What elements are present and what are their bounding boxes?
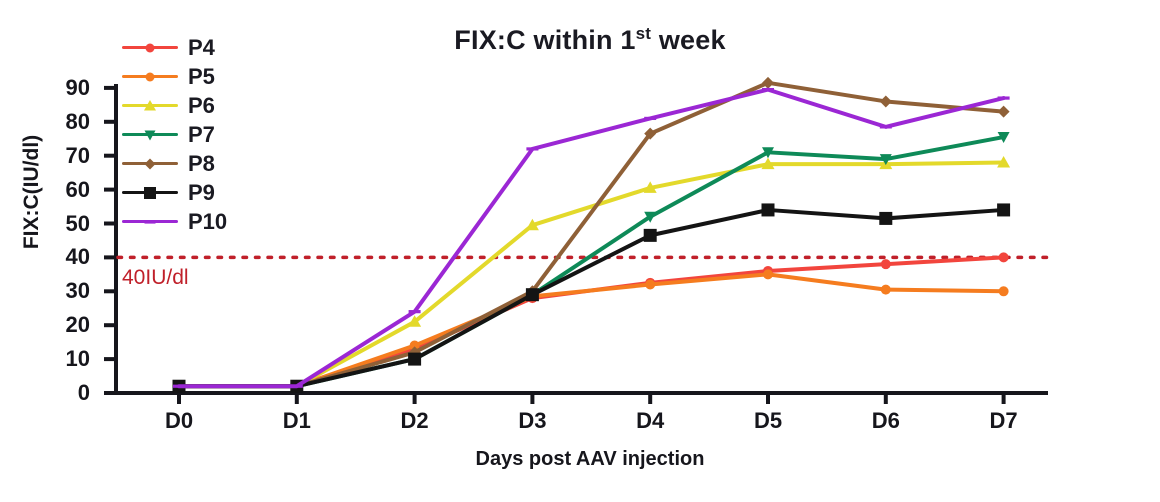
legend-label: P7: [188, 124, 215, 146]
legend-marker-diamond-icon: [139, 155, 161, 173]
chart-title-wrap: FIX:C within 1st week: [360, 24, 820, 56]
x-tick-label: D4: [620, 408, 680, 434]
legend-label: P6: [188, 95, 215, 117]
legend-marker-circle-icon: [139, 68, 161, 86]
legend-label: P10: [188, 211, 227, 233]
legend-label: P9: [188, 182, 215, 204]
x-tick-label: D6: [856, 408, 916, 434]
x-tick-label: D2: [385, 408, 445, 434]
legend-marker-line-icon: [139, 213, 161, 231]
axis-group: [104, 84, 1048, 404]
legend-swatch-p9: [122, 184, 178, 202]
y-tick-label: 30: [50, 278, 90, 304]
legend-swatch-p7: [122, 126, 178, 144]
y-axis-label: FIX:C(IU/dl): [20, 82, 44, 302]
threshold-label: 40IU/dl: [122, 266, 189, 290]
legend-item-p9[interactable]: P9: [122, 178, 227, 207]
series-p10: [173, 88, 1010, 388]
legend-item-p10[interactable]: P10: [122, 207, 227, 236]
page-title: FIX:C within 1st week: [454, 25, 725, 55]
y-tick-label: 90: [50, 75, 90, 101]
y-tick-label: 60: [50, 177, 90, 203]
legend-item-p7[interactable]: P7: [122, 120, 227, 149]
series-p7: [173, 132, 1010, 392]
x-tick-label: D1: [267, 408, 327, 434]
x-tick-label: D0: [149, 408, 209, 434]
chart-figure: FIX:C within 1st week P4P5P6P7P8P9P10 01…: [0, 0, 1160, 502]
series-p4: [174, 252, 1009, 391]
legend-item-p6[interactable]: P6: [122, 91, 227, 120]
legend-swatch-p8: [122, 155, 178, 173]
y-tick-label: 10: [50, 346, 90, 372]
chart-title-tail: week: [651, 25, 726, 55]
legend-label: P5: [188, 66, 215, 88]
y-tick-label: 40: [50, 244, 90, 270]
y-tick-label: 20: [50, 312, 90, 338]
chart-title-main: FIX:C within 1: [454, 25, 635, 55]
y-tick-label: 50: [50, 211, 90, 237]
legend-label: P8: [188, 153, 215, 175]
y-tick-label: 0: [50, 380, 90, 406]
y-tick-label: 80: [50, 109, 90, 135]
legend-label: P4: [188, 37, 215, 59]
y-tick-label: 70: [50, 143, 90, 169]
legend-item-p4[interactable]: P4: [122, 33, 227, 62]
series-p6: [173, 156, 1011, 391]
legend-swatch-p10: [122, 213, 178, 231]
series-p8: [173, 77, 1010, 392]
chart-legend: P4P5P6P7P8P9P10: [122, 33, 227, 236]
x-tick-label: D5: [738, 408, 798, 434]
chart-title-superscript: st: [636, 24, 652, 43]
legend-item-p8[interactable]: P8: [122, 149, 227, 178]
x-tick-label: D3: [502, 408, 562, 434]
legend-marker-triangle-icon: [139, 97, 161, 115]
legend-marker-circle-icon: [139, 39, 161, 57]
legend-swatch-p4: [122, 39, 178, 57]
series-p9: [173, 203, 1011, 392]
legend-marker-triangle-down-icon: [139, 126, 161, 144]
x-tick-label: D7: [974, 408, 1034, 434]
legend-swatch-p5: [122, 68, 178, 86]
x-axis-label: Days post AAV injection: [330, 448, 850, 471]
legend-item-p5[interactable]: P5: [122, 62, 227, 91]
legend-swatch-p6: [122, 97, 178, 115]
legend-marker-square-icon: [139, 184, 161, 202]
series-p5: [174, 269, 1009, 391]
